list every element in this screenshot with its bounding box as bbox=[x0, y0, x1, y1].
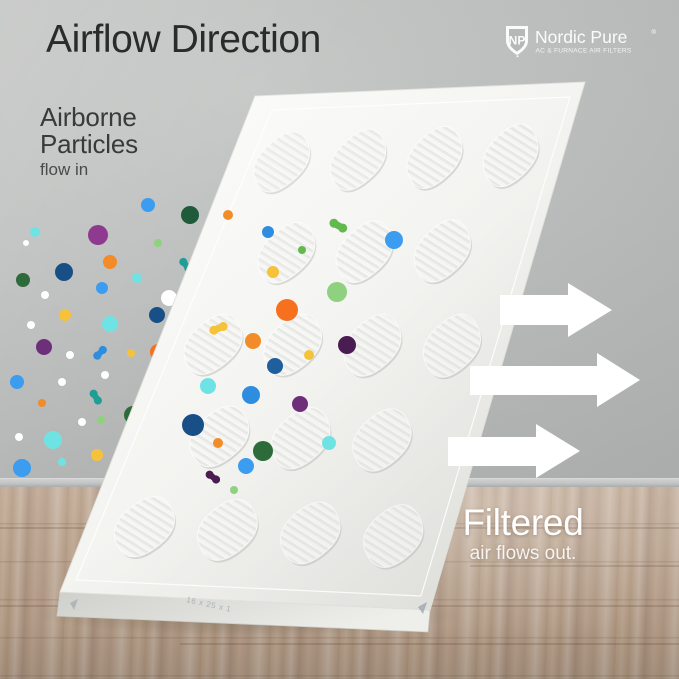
intake-label-line3: flow in bbox=[40, 160, 138, 180]
output-label-line2: air flows out. bbox=[403, 543, 643, 565]
brand-tagline: AC & FURNACE AIR FILTERS bbox=[536, 48, 632, 55]
filtered-air-arrow bbox=[500, 283, 612, 337]
output-label: Filtered air flows out. bbox=[403, 503, 643, 565]
output-label-line1: Filtered bbox=[403, 503, 643, 543]
page-title: Airflow Direction bbox=[46, 18, 321, 62]
intake-label-line1: Airborne bbox=[40, 104, 138, 131]
filtered-air-arrow bbox=[470, 353, 640, 407]
brand-registered-mark: ® bbox=[652, 29, 657, 36]
filtered-air-arrow bbox=[448, 424, 580, 478]
brand-monogram: NP bbox=[509, 34, 526, 48]
intake-label: Airborne Particles flow in bbox=[40, 104, 138, 180]
intake-label-line2: Particles bbox=[40, 131, 138, 158]
brand-logo: NP Nordic Pure ® AC & FURNACE AIR FILTER… bbox=[503, 23, 659, 59]
shield-icon: NP bbox=[506, 26, 528, 57]
brand-name: Nordic Pure bbox=[535, 27, 627, 47]
